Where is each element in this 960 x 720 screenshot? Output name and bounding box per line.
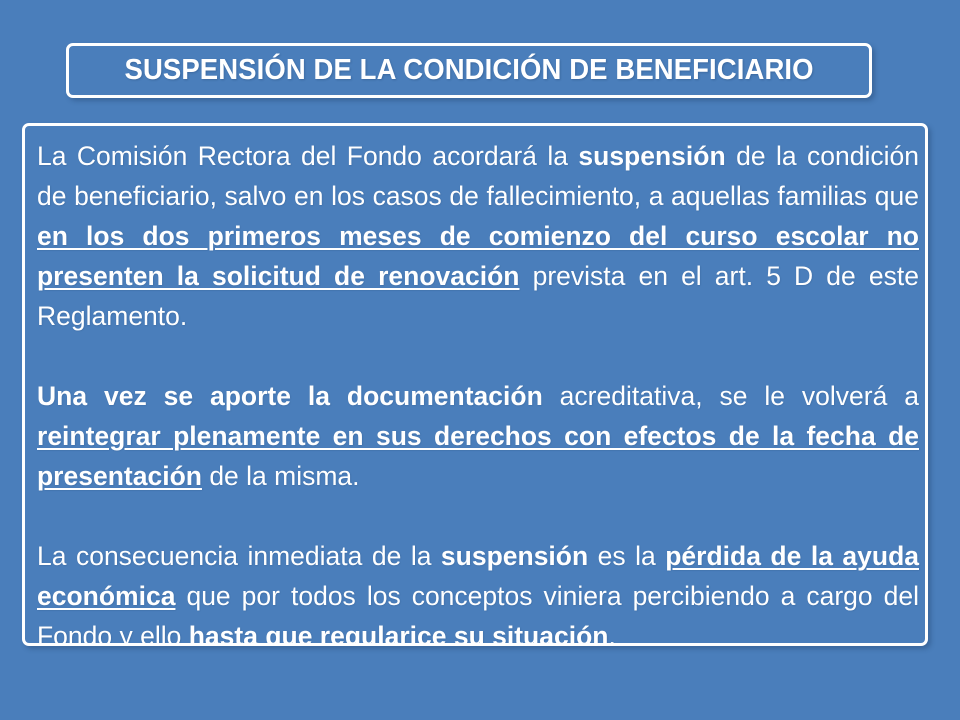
text-run-bold: Una vez se aporte la documentación: [37, 381, 543, 411]
text-run: La consecuencia inmediata de la: [37, 541, 441, 571]
text-run: La Comisión Rectora del Fondo acordará l…: [37, 141, 578, 171]
body-text: La Comisión Rectora del Fondo acordará l…: [37, 136, 919, 646]
text-run: es la: [588, 541, 665, 571]
title-banner: SUSPENSIÓN DE LA CONDICIÓN DE BENEFICIAR…: [66, 43, 872, 98]
text-run: de la misma.: [202, 461, 360, 491]
content-panel: La Comisión Rectora del Fondo acordará l…: [22, 123, 928, 646]
paragraph-1: La Comisión Rectora del Fondo acordará l…: [37, 136, 919, 336]
text-run-bold-underline: hasta que regularice su situación: [181, 621, 608, 646]
paragraph-2: Una vez se aporte la documentación acred…: [37, 376, 919, 496]
text-run: .: [608, 621, 615, 646]
text-run-bold-underline: reintegrar plenamente en sus derechos co…: [37, 421, 919, 491]
text-run-bold: suspensión: [441, 541, 588, 571]
text-run: acreditativa, se le volverá a: [543, 381, 919, 411]
slide-canvas: SUSPENSIÓN DE LA CONDICIÓN DE BENEFICIAR…: [0, 0, 960, 720]
page-title: SUSPENSIÓN DE LA CONDICIÓN DE BENEFICIAR…: [124, 56, 813, 85]
text-run-bold: suspensión: [578, 141, 725, 171]
paragraph-3: La consecuencia inmediata de la suspensi…: [37, 536, 919, 646]
